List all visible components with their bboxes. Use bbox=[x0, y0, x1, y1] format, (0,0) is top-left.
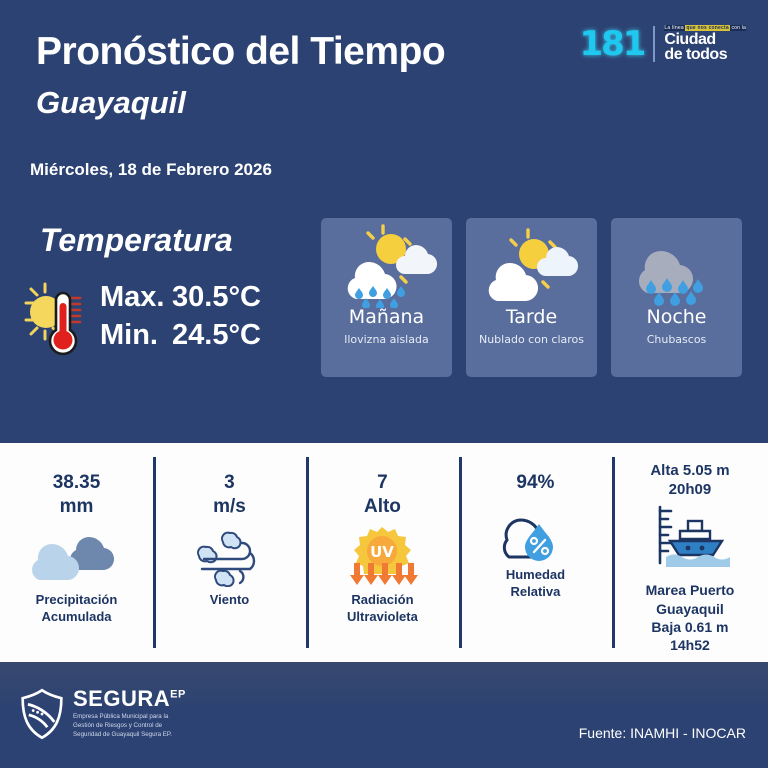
svg-text:UV: UV bbox=[371, 543, 395, 561]
page-title: Pronóstico del Tiempo bbox=[36, 30, 445, 74]
logo-ciudad-text: Ciudad de todos bbox=[664, 33, 746, 62]
segura-tagline-line3: Seguridad de Guayaquil Segura EP. bbox=[73, 731, 172, 738]
tide-high-time: 20h09 bbox=[669, 481, 712, 498]
stat-value: 94% bbox=[516, 471, 554, 495]
segura-tagline-line2: Gestión de Riesgos y Control de bbox=[73, 722, 162, 729]
footer: SEGURAEP Empresa Pública Municipal para … bbox=[0, 662, 768, 768]
temperature-min-label: Min. bbox=[100, 316, 164, 354]
stat-label: Viento bbox=[210, 592, 250, 609]
tide-boat-icon bbox=[644, 501, 736, 577]
source-attribution: Fuente: INAMHI - INOCAR bbox=[579, 725, 746, 741]
period-name: Tarde bbox=[506, 306, 557, 328]
tide-label-line2: Guayaquil bbox=[656, 601, 724, 617]
temperature-max-row: Max. 30.5°C bbox=[100, 278, 261, 316]
tide-low-value: Baja 0.61 m bbox=[651, 619, 728, 635]
stat-marea: Alta 5.05 m 20h09 bbox=[612, 443, 768, 662]
segura-ep-text: SEGURAEP Empresa Pública Municipal para … bbox=[73, 688, 186, 740]
rain-cloud-icon bbox=[625, 222, 729, 308]
stat-label-line2: Acumulada bbox=[41, 609, 111, 624]
logo-ciudad-line2: de todos bbox=[664, 48, 746, 63]
cell-divider bbox=[153, 457, 156, 648]
segura-brand-ep: EP bbox=[170, 689, 186, 701]
period-description: Nublado con claros bbox=[475, 333, 588, 346]
period-name: Noche bbox=[646, 306, 706, 328]
logo-ciudad-block: La línea que nos conecta con la Ciudad d… bbox=[664, 25, 746, 62]
stat-label-line1: Viento bbox=[210, 592, 250, 607]
cell-divider bbox=[612, 457, 615, 648]
stat-unit: Alto bbox=[364, 496, 401, 517]
stat-label: Precipitación Acumulada bbox=[36, 592, 118, 626]
logo-divider bbox=[653, 26, 655, 62]
cell-divider bbox=[306, 457, 309, 648]
logo-tagline-post: con la bbox=[730, 25, 746, 31]
clouds-icon bbox=[30, 524, 122, 588]
stats-panel: 38.35 mm Precipitación Acumulada 3 m/s bbox=[0, 443, 768, 662]
stat-value: 3 m/s bbox=[213, 471, 246, 520]
logo-181-text: 181 bbox=[579, 24, 644, 64]
tide-low-time: 14h52 bbox=[670, 637, 710, 653]
stat-label: Humedad Relativa bbox=[506, 567, 565, 601]
weather-infographic: Pronóstico del Tiempo Guayaquil Miércole… bbox=[0, 0, 768, 768]
stat-label-line1: Humedad bbox=[506, 567, 565, 582]
stat-unit: m/s bbox=[213, 496, 246, 517]
wind-icon bbox=[192, 524, 266, 588]
stat-number: 94% bbox=[516, 472, 554, 493]
period-card-tarde[interactable]: Tarde Nublado con claros bbox=[466, 218, 597, 377]
period-card-manana[interactable]: Mañana llovizna aislada bbox=[321, 218, 452, 377]
stat-label-line1: Precipitación bbox=[36, 592, 118, 607]
shield-icon bbox=[20, 688, 64, 740]
period-name: Mañana bbox=[349, 306, 424, 328]
period-description: llovizna aislada bbox=[340, 333, 432, 346]
logo-181-ciudad: 181 La línea que nos conecta con la Ciud… bbox=[579, 24, 746, 64]
segura-brand: SEGURAEP bbox=[73, 688, 186, 710]
stat-precipitacion: 38.35 mm Precipitación Acumulada bbox=[0, 443, 153, 662]
temperature-heading: Temperatura bbox=[40, 222, 233, 259]
stat-viento: 3 m/s Viento bbox=[153, 443, 306, 662]
temperature-max-value: 30.5°C bbox=[172, 278, 261, 316]
stat-label-line1: Radiación bbox=[351, 592, 413, 607]
temperature-min-row: Min. 24.5°C bbox=[100, 316, 261, 354]
segura-ep-logo: SEGURAEP Empresa Pública Municipal para … bbox=[20, 688, 186, 740]
period-description: Chubascos bbox=[643, 333, 711, 346]
stat-label-line2: Ultravioleta bbox=[347, 609, 418, 624]
hero-section: Pronóstico del Tiempo Guayaquil Miércole… bbox=[0, 0, 768, 443]
temperature-values: Max. 30.5°C Min. 24.5°C bbox=[100, 278, 261, 355]
city-name: Guayaquil bbox=[36, 85, 186, 121]
tide-high: Alta 5.05 m 20h09 bbox=[650, 461, 729, 499]
period-cards: Mañana llovizna aislada bbox=[321, 218, 742, 377]
tide-label: Marea Puerto Guayaquil Baja 0.61 m 14h52 bbox=[646, 581, 735, 654]
stat-number: 38.35 bbox=[53, 472, 101, 493]
stat-unit: mm bbox=[60, 496, 94, 517]
stat-humedad: 94% Humedad Relativa bbox=[459, 443, 612, 662]
temperature-min-value: 24.5°C bbox=[172, 316, 261, 354]
segura-tagline: Empresa Pública Municipal para la Gestió… bbox=[73, 713, 186, 740]
cell-divider bbox=[459, 457, 462, 648]
sun-behind-cloud-icon bbox=[480, 222, 584, 308]
segura-brand-main: SEGURA bbox=[73, 686, 170, 711]
stat-label-line2: Relativa bbox=[511, 584, 561, 599]
sun-thermometer-icon bbox=[18, 272, 96, 362]
stat-label: Radiación Ultravioleta bbox=[347, 592, 418, 626]
stat-number: 7 bbox=[377, 472, 388, 493]
segura-tagline-line1: Empresa Pública Municipal para la bbox=[73, 713, 168, 720]
sun-cloud-drizzle-icon bbox=[335, 222, 439, 308]
stat-radiacion-uv: 7 Alto UV Radiación bbox=[306, 443, 459, 662]
temperature-max-label: Max. bbox=[100, 278, 164, 316]
tide-label-line1: Marea Puerto bbox=[646, 582, 735, 598]
uv-sun-icon: UV bbox=[344, 524, 420, 588]
stat-value: 38.35 mm bbox=[53, 471, 101, 520]
stat-value: 7 Alto bbox=[364, 471, 401, 520]
period-card-noche[interactable]: Noche Chubascos bbox=[611, 218, 742, 377]
stat-number: 3 bbox=[224, 472, 235, 493]
humidity-cloud-drop-icon bbox=[493, 499, 577, 563]
forecast-date: Miércoles, 18 de Febrero 2026 bbox=[30, 160, 272, 180]
tide-high-value: Alta 5.05 m bbox=[650, 462, 729, 479]
